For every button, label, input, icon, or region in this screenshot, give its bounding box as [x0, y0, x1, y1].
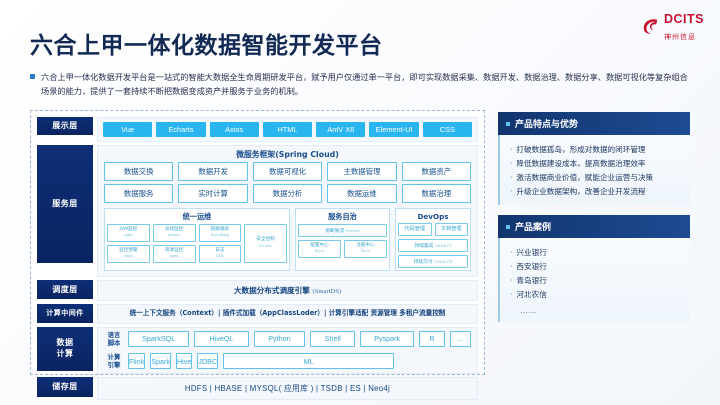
- governance-grid: 配置中心 Nacos 注册中心 Nacos: [298, 240, 387, 258]
- ops-item[interactable]: 资源监控 agent: [153, 245, 196, 263]
- dot-icon: ·: [510, 173, 512, 182]
- tech-tag[interactable]: AntV X6: [316, 122, 365, 137]
- card-body-cases: · 兴业银行 · 西安银行 · 青岛银行 · 河北农信 ……: [498, 238, 690, 321]
- devops-cn: 持续交付: [414, 260, 433, 265]
- script-chip[interactable]: R: [419, 331, 445, 347]
- subtitle-text: 六合上甲一体化数据开发平台是一站式的智能大数据全生命周期研发平台，赋予用户仅通过…: [41, 70, 688, 99]
- card-body-advantages: · 打破数据孤岛，形成对数据的闭环管理 · 降低数据建设成本，提高数据治理效率 …: [498, 135, 690, 205]
- ops-grid: JVM监控 agent 监控预警 alarm 总线监控: [107, 224, 287, 263]
- governance-cn: 熔断限流: [325, 229, 344, 234]
- advantage-item: · 激活数据商业价值，赋能企业运营与决策: [510, 170, 690, 184]
- advantage-item: · 降低数据建设成本，提高数据治理效率: [510, 156, 690, 170]
- panel-service-governance: 服务自治 熔断限流 Sentinel 配置中心 Nacos: [295, 208, 390, 271]
- bullet-square-icon: [30, 74, 35, 79]
- service-module[interactable]: 数据资产: [402, 162, 471, 181]
- script-label-line2: 脚本: [108, 339, 121, 347]
- service-module[interactable]: 数据可视化: [253, 162, 322, 181]
- service-module[interactable]: 数据治理: [402, 184, 471, 203]
- layer-service: 服务层 微服务框架(Spring Cloud) 数据交换 数据开发 数据可视化 …: [37, 145, 478, 277]
- storage-text: HDFS | HBASE | MYSQL( 应用库 ) | TSDB | ES …: [98, 378, 477, 399]
- ops-item-en: agent: [109, 233, 148, 238]
- chip-spacer: [399, 353, 471, 369]
- engine-row-label: 计算 引擎: [104, 353, 124, 370]
- service-module[interactable]: 实时计算: [178, 184, 247, 203]
- advantage-text: 激活数据商业价值，赋能企业运营与决策: [516, 173, 653, 182]
- layer-presentation: 展示层 Vue Echarts Axios HTML AntV X6 Eleme…: [37, 117, 478, 142]
- panel-unified-ops: 统一运维 JVM监控 agent 监控预警 alarm: [104, 208, 290, 271]
- tech-tag[interactable]: Element-UI: [369, 122, 418, 137]
- compute-body: 语言 脚本 SparkSQL HiveQL Python Shell Pyspa…: [97, 327, 478, 374]
- dot-icon: ·: [510, 262, 512, 271]
- layer-label-presentation: 展示层: [37, 117, 93, 135]
- brand-name-en: DCITS: [664, 12, 704, 26]
- case-item: · 青岛银行: [510, 274, 690, 288]
- advantage-text: 升级企业数据架构，改善企业开发流程: [516, 187, 645, 196]
- case-text: 河北农信: [516, 290, 546, 299]
- brand-name-cn: 神州信息: [664, 33, 696, 41]
- governance-item[interactable]: 注册中心 Nacos: [344, 240, 387, 258]
- compute-label-line1: 数据: [57, 338, 74, 347]
- ops-item-cn: JVM监控: [120, 227, 138, 232]
- service-module[interactable]: 数据开发: [178, 162, 247, 181]
- governance-cn: 配置中心: [310, 243, 328, 248]
- ops-item-cn: 总线监控: [165, 227, 183, 232]
- devops-item[interactable]: 文档管理: [435, 223, 469, 236]
- layer-label-middleware: 计算中间件: [37, 304, 93, 323]
- compute-label-line2: 计算: [57, 349, 74, 358]
- governance-cn: 注册中心: [356, 243, 374, 248]
- script-row-label: 语言 脚本: [104, 331, 124, 348]
- middleware-text: 统一上下文服务（Context）| 插件式加载（AppClassLoder）| …: [98, 305, 477, 322]
- tech-tag[interactable]: CSS: [423, 122, 472, 137]
- service-body: 微服务框架(Spring Cloud) 数据交换 数据开发 数据可视化 主数据管…: [97, 145, 478, 277]
- service-module[interactable]: 数据交换: [104, 162, 173, 181]
- service-module[interactable]: 数据服务: [104, 184, 173, 203]
- tech-tag[interactable]: Echarts: [156, 122, 205, 137]
- ops-item[interactable]: JVM监控 agent: [107, 224, 150, 242]
- card-header-advantages: 产品特点与优势: [498, 112, 690, 135]
- security-en: Security: [246, 244, 285, 249]
- ops-item[interactable]: 日志 ELK: [199, 245, 242, 263]
- engine-label-line2: 引擎: [108, 361, 121, 369]
- schedule-engine: 大数据分布式调度引擎 (SmartDS): [98, 281, 477, 300]
- ops-col: 链路跟踪 skywalking 日志 ELK: [199, 224, 242, 263]
- panel-devops: DevOps 代码管理 文档管理 持续集成 Gitlab-CI: [395, 208, 471, 271]
- presentation-tag-row: Vue Echarts Axios HTML AntV X6 Element-U…: [98, 118, 477, 141]
- ops-item[interactable]: 链路跟踪 skywalking: [199, 224, 242, 242]
- card-advantages: 产品特点与优势 · 打破数据孤岛，形成对数据的闭环管理 · 降低数据建设成本，提…: [498, 112, 690, 205]
- devops-grid: 代码管理 文档管理: [398, 223, 468, 236]
- ops-item-en: alarm: [109, 254, 148, 259]
- engine-chip[interactable]: JDBC: [197, 353, 218, 369]
- layer-compute: 数据 计算 语言 脚本 SparkSQL HiveQL Python Shell…: [37, 327, 478, 374]
- script-chip[interactable]: Pyspark: [360, 331, 414, 347]
- bullet-square-icon: [506, 122, 510, 126]
- presentation-body: Vue Echarts Axios HTML AntV X6 Element-U…: [97, 117, 478, 142]
- ops-item-cn: 资源监控: [165, 248, 183, 253]
- service-module[interactable]: 数据分析: [253, 184, 322, 203]
- layer-label-storage: 储存层: [37, 377, 93, 397]
- engine-chip[interactable]: Hive: [176, 353, 192, 369]
- dot-icon: ·: [510, 159, 512, 168]
- devops-item[interactable]: 持续集成 Gitlab-CI: [398, 239, 468, 252]
- card-title-advantages: 产品特点与优势: [515, 117, 578, 130]
- governance-item[interactable]: 配置中心 Nacos: [298, 240, 341, 258]
- script-chip[interactable]: …: [450, 331, 471, 347]
- panel-title-governance: 服务自治: [298, 211, 387, 224]
- compute-scripts-row: 语言 脚本 SparkSQL HiveQL Python Shell Pyspa…: [98, 328, 477, 351]
- devops-en: Gitlab-CD: [434, 259, 452, 264]
- governance-en: Nacos: [346, 249, 385, 254]
- card-header-cases: 产品案例: [498, 215, 690, 238]
- ops-item-cn: 链路跟踪: [211, 227, 229, 232]
- script-chip[interactable]: Shell: [310, 331, 355, 347]
- layer-label-compute: 数据 计算: [37, 327, 93, 371]
- script-chip[interactable]: SparkSQL: [128, 331, 189, 347]
- card-cases: 产品案例 · 兴业银行 · 西安银行 · 青岛银行 · 河北农信: [498, 215, 690, 321]
- ops-item[interactable]: 监控预警 alarm: [107, 245, 150, 263]
- storage-body: HDFS | HBASE | MYSQL( 应用库 ) | TSDB | ES …: [97, 377, 478, 400]
- case-text: 青岛银行: [516, 276, 546, 285]
- right-panel: 产品特点与优势 · 打破数据孤岛，形成对数据的闭环管理 · 降低数据建设成本，提…: [498, 112, 690, 332]
- advantage-item: · 升级企业数据架构，改善企业开发流程: [510, 184, 690, 198]
- swirl-logo-icon: [641, 17, 660, 36]
- architecture-diagram: 展示层 Vue Echarts Axios HTML AntV X6 Eleme…: [30, 110, 485, 375]
- bullet-square-icon: [506, 225, 510, 229]
- layer-middleware: 计算中间件 统一上下文服务（Context）| 插件式加载（AppClassLo…: [37, 304, 478, 323]
- tech-tag[interactable]: HTML: [263, 122, 312, 137]
- layer-label-schedule: 调度层: [37, 280, 93, 299]
- panel-title-devops: DevOps: [398, 211, 468, 223]
- middleware-body: 统一上下文服务（Context）| 插件式加载（AppClassLoder）| …: [97, 304, 478, 323]
- layer-label-service: 服务层: [37, 145, 93, 263]
- brand-logo: DCITS 神州信息: [641, 10, 704, 42]
- dot-icon: ·: [510, 248, 512, 257]
- script-chip[interactable]: Python: [254, 331, 306, 347]
- ops-item-en: skywalking: [201, 233, 240, 238]
- dot-icon: ·: [510, 276, 512, 285]
- schedule-body: 大数据分布式调度引擎 (SmartDS): [97, 280, 478, 301]
- layer-storage: 储存层 HDFS | HBASE | MYSQL( 应用库 ) | TSDB |…: [37, 377, 478, 400]
- script-chips: SparkSQL HiveQL Python Shell Pyspark R …: [128, 331, 471, 347]
- case-text: 西安银行: [516, 262, 546, 271]
- service-modules-row-1: 数据交换 数据开发 数据可视化 主数据管理 数据资产: [98, 162, 477, 184]
- dot-icon: ·: [510, 290, 512, 299]
- tech-tag[interactable]: Vue: [103, 122, 152, 137]
- card-title-cases: 产品案例: [515, 220, 551, 233]
- cases-more: ……: [510, 302, 690, 315]
- case-text: 兴业银行: [516, 248, 546, 257]
- service-module[interactable]: 主数据管理: [327, 162, 396, 181]
- ops-item-en: monitor: [155, 233, 194, 238]
- script-label-line1: 语言: [108, 331, 121, 339]
- advantage-text: 打破数据孤岛，形成对数据的闭环管理: [516, 145, 645, 154]
- dot-icon: ·: [510, 145, 512, 154]
- page-title: 六合上甲一体化数据智能开发平台: [30, 26, 383, 60]
- engine-chip[interactable]: Flink: [128, 353, 145, 369]
- service-module[interactable]: 数据运维: [327, 184, 396, 203]
- ops-item-en: ELK: [201, 254, 240, 259]
- schedule-engine-cn: 大数据分布式调度引擎: [234, 286, 310, 295]
- governance-en: Sentinel: [346, 228, 360, 233]
- case-item: · 河北农信: [510, 288, 690, 302]
- case-item: · 西安银行: [510, 260, 690, 274]
- panel-title-ops: 统一运维: [107, 211, 287, 224]
- ops-col-security: 安全控制 Security: [244, 224, 287, 263]
- ops-item[interactable]: 总线监控 monitor: [153, 224, 196, 242]
- dot-icon: ·: [510, 187, 512, 196]
- advantage-text: 降低数据建设成本，提高数据治理效率: [516, 159, 645, 168]
- schedule-engine-en: (SmartDS): [313, 288, 342, 295]
- devops-item[interactable]: 持续交付 Gitlab-CD: [398, 255, 468, 268]
- service-modules-row-2: 数据服务 实时计算 数据分析 数据运维 数据治理: [98, 184, 477, 206]
- compute-engines-row: 计算 引擎 Flink Spark Hive JDBC ML: [98, 350, 477, 373]
- governance-en: Nacos: [300, 249, 339, 254]
- governance-stack: 熔断限流 Sentinel 配置中心 Nacos 注册中心 N: [298, 224, 387, 258]
- engine-label-line1: 计算: [108, 353, 121, 361]
- ops-col: 总线监控 monitor 资源监控 agent: [153, 224, 196, 263]
- devops-stack: 代码管理 文档管理 持续集成 Gitlab-CI 持续交付 Gitlab-CD: [398, 223, 468, 268]
- devops-en: Gitlab-CI: [435, 243, 451, 248]
- engine-chips: Flink Spark Hive JDBC ML: [128, 353, 471, 369]
- devops-item[interactable]: 代码管理: [398, 223, 432, 236]
- governance-item[interactable]: 熔断限流 Sentinel: [298, 224, 387, 237]
- ops-col: JVM监控 agent 监控预警 alarm: [107, 224, 150, 263]
- devops-cn: 持续集成: [414, 244, 433, 249]
- ops-item-en: agent: [155, 254, 194, 259]
- page-subtitle: 六合上甲一体化数据开发平台是一站式的智能大数据全生命周期研发平台，赋予用户仅通过…: [30, 70, 688, 99]
- service-sub-panels: 统一运维 JVM监控 agent 监控预警 alarm: [98, 206, 477, 276]
- script-chip[interactable]: HiveQL: [194, 331, 248, 347]
- microservice-framework-title: 微服务框架(Spring Cloud): [98, 146, 477, 162]
- security-control-item[interactable]: 安全控制 Security: [244, 224, 287, 263]
- ops-item-cn: 日志: [215, 248, 224, 253]
- case-item: · 兴业银行: [510, 245, 690, 259]
- ops-item-cn: 监控预警: [119, 248, 137, 253]
- engine-chip[interactable]: ML: [223, 353, 394, 369]
- advantage-item: · 打破数据孤岛，形成对数据的闭环管理: [510, 142, 690, 156]
- layer-schedule: 调度层 大数据分布式调度引擎 (SmartDS): [37, 280, 478, 301]
- tech-tag[interactable]: Axios: [210, 122, 259, 137]
- engine-chip[interactable]: Spark: [150, 353, 171, 369]
- slide-root: DCITS 神州信息 六合上甲一体化数据智能开发平台 六合上甲一体化数据开发平台…: [0, 0, 720, 405]
